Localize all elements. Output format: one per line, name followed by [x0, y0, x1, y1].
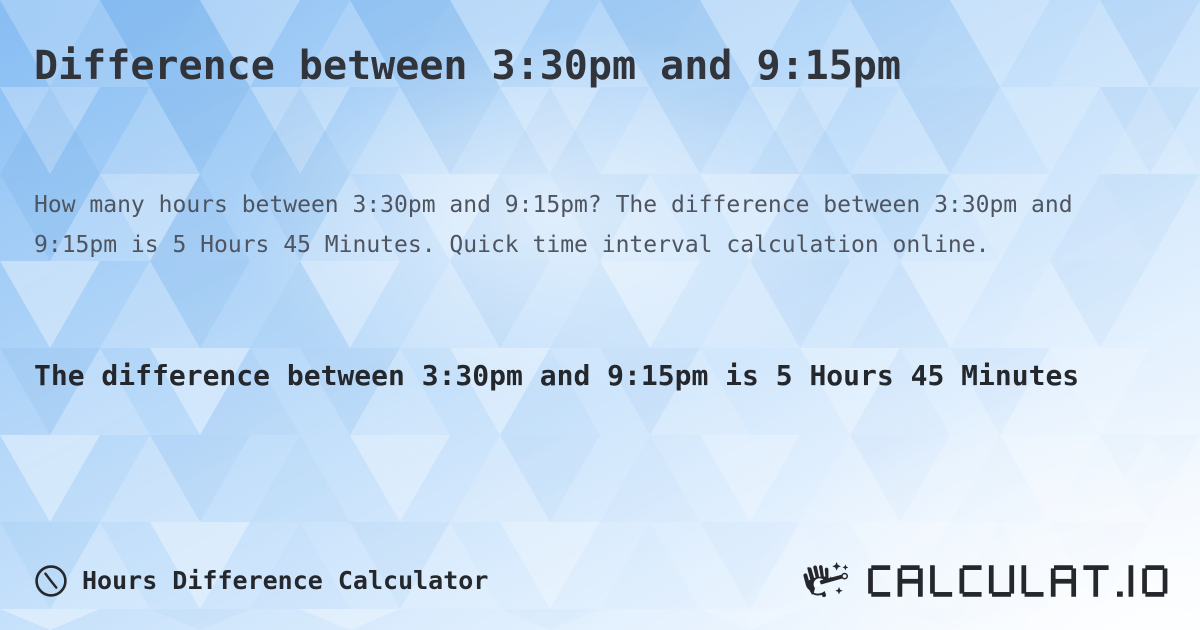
brand-wordmark: CALCULAT.IO [865, 560, 1180, 602]
clock-icon [34, 564, 68, 598]
brand-logo[interactable]: CALCULAT.IO [803, 559, 1180, 603]
footer: Hours Difference Calculator [34, 554, 1180, 608]
og-image-card: Difference between 3:30pm and 9:15pm How… [0, 0, 1200, 630]
footer-tool-label: Hours Difference Calculator [82, 566, 488, 596]
page-title: Difference between 3:30pm and 9:15pm [34, 42, 1166, 90]
result-heading: The difference between 3:30pm and 9:15pm… [34, 352, 1154, 400]
card-content: Difference between 3:30pm and 9:15pm How… [0, 0, 1200, 630]
page-description: How many hours between 3:30pm and 9:15pm… [34, 185, 1169, 265]
footer-tool[interactable]: Hours Difference Calculator [34, 564, 488, 598]
magic-wand-hand-icon [803, 559, 859, 603]
